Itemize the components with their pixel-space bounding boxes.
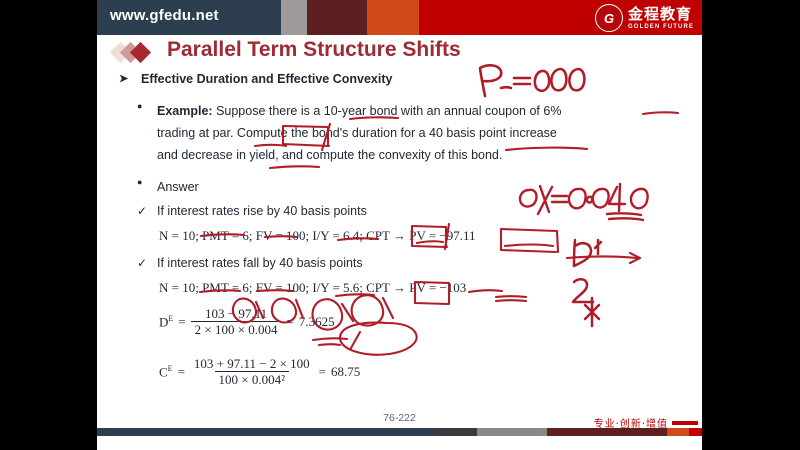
duration-equals-2: =: [287, 314, 294, 330]
footer-band-dark-red: [547, 428, 667, 436]
footer-band-navy: [97, 428, 437, 436]
section-heading: Effective Duration and Effective Convexi…: [141, 72, 392, 86]
effective-duration-formula: DE = 103 − 97.11 2 × 100 × 0.004 = 7.362…: [159, 306, 335, 338]
duration-equals: =: [178, 314, 185, 330]
rates-rise-equation: N = 10; PMT = 6; FV = 100; I/Y = 6.4; CP…: [159, 228, 476, 244]
arrow-bullet-icon: ➤: [119, 72, 128, 85]
duration-superscript: E: [168, 314, 173, 323]
convexity-superscript: E: [168, 364, 173, 373]
example-label: Example:: [157, 104, 213, 118]
header-band-dark-red: [307, 0, 367, 35]
rates-fall-label: If interest rates fall by 40 basis point…: [157, 256, 363, 270]
footer-band-red: [689, 428, 702, 436]
round-bullet-icon: ●: [137, 101, 142, 111]
duration-denominator: 2 × 100 × 0.004: [191, 321, 282, 337]
slide-body: ➤ Effective Duration and Effective Conve…: [97, 72, 702, 407]
example-text-line3: and decrease in yield, and compute the c…: [157, 148, 502, 162]
footer-band-grey: [477, 428, 547, 436]
check-bullet-icon-2: ✓: [137, 256, 147, 270]
brand-logo: G 金程教育 GOLDEN FUTURE: [595, 4, 694, 32]
footer-accent-dash: [672, 421, 698, 425]
convexity-denominator: 100 × 0.004²: [215, 371, 289, 387]
footer-band-orange: [667, 428, 689, 436]
check-bullet-icon: ✓: [137, 204, 147, 218]
site-url-label: www.gfedu.net: [110, 7, 219, 24]
convexity-equals: =: [178, 364, 185, 380]
page-title: Parallel Term Structure Shifts: [167, 38, 461, 62]
duration-symbol: D: [159, 314, 168, 329]
slide-footer-bar: [97, 428, 702, 436]
rates-fall-equation: N = 10; PMT = 6; FV = 100; I/Y = 5.6; CP…: [159, 280, 466, 296]
convexity-numerator: 103 + 97.11 − 2 × 100: [190, 356, 314, 371]
footer-band-dark: [437, 428, 477, 436]
logo-chinese-name: 金程教育: [628, 7, 694, 22]
answer-label: Answer: [157, 176, 657, 198]
round-bullet-icon-2: ●: [137, 177, 142, 187]
convexity-equals-2: =: [319, 364, 326, 380]
slide-title-row: Parallel Term Structure Shifts: [107, 38, 692, 68]
logo-seal-icon: G: [595, 4, 623, 32]
header-band-orange: [367, 0, 419, 35]
logo-english-name: GOLDEN FUTURE: [628, 24, 694, 30]
diamond-bullet-icon: [113, 42, 161, 64]
example-text-line2: trading at par. Compute the bond's durat…: [157, 126, 557, 140]
duration-result: 7.3625: [299, 314, 335, 330]
example-text-line1: Suppose there is a 10-year bond with an …: [213, 104, 562, 118]
rates-rise-label: If interest rates rise by 40 basis point…: [157, 204, 367, 218]
duration-numerator: 103 − 97.11: [201, 306, 271, 321]
video-player-stage: www.gfedu.net G 金程教育 GOLDEN FUTURE Paral…: [0, 0, 800, 450]
slide-header: www.gfedu.net G 金程教育 GOLDEN FUTURE: [97, 0, 702, 35]
convexity-result: 68.75: [331, 364, 360, 380]
presentation-slide: www.gfedu.net G 金程教育 GOLDEN FUTURE Paral…: [97, 0, 702, 450]
effective-convexity-formula: CE = 103 + 97.11 − 2 × 100 100 × 0.004² …: [159, 356, 360, 388]
header-band-grey: [281, 0, 307, 35]
convexity-symbol: C: [159, 364, 168, 379]
